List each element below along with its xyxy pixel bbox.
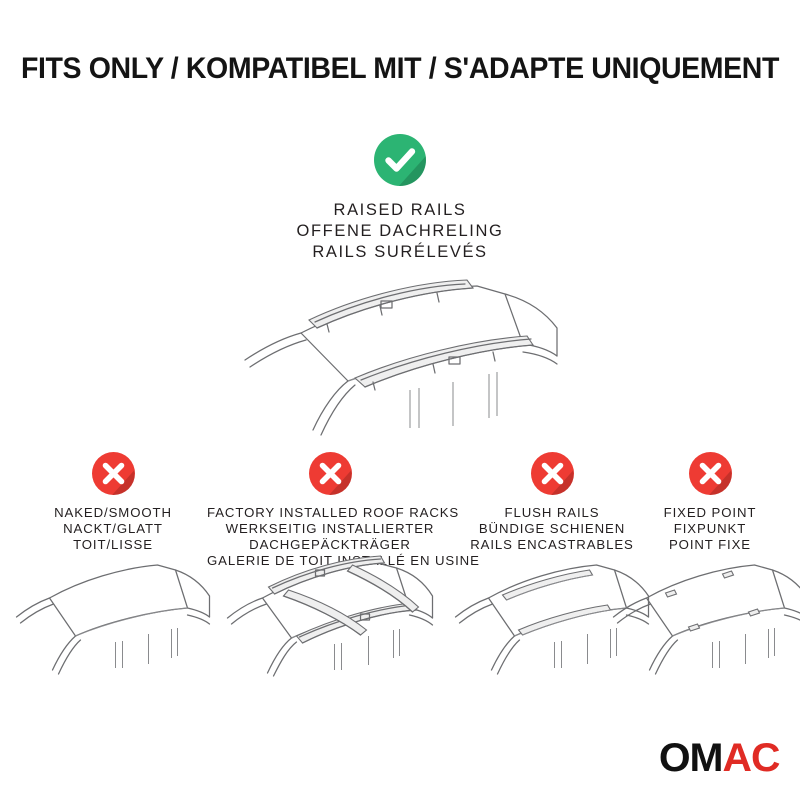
logo-text-dark: OM xyxy=(659,736,723,780)
compatible-label-de: OFFENE DACHRELING xyxy=(0,221,800,242)
column-factory-roof-racks: FACTORY INSTALLED ROOF RACKS WERKSEITIG … xyxy=(207,452,453,569)
compatible-label-en: RAISED RAILS xyxy=(0,200,800,221)
car-roof-naked-smooth-illustration xyxy=(6,560,221,675)
label-line-2: FIXPUNKT xyxy=(632,521,788,537)
column-naked-smooth-labels: NAKED/SMOOTH NACKT/GLATT TOIT/LISSE xyxy=(13,505,213,553)
check-icon xyxy=(374,134,426,186)
logo-text-red: AC xyxy=(722,736,779,780)
incompatible-sections: NAKED/SMOOTH NACKT/GLATT TOIT/LISSE xyxy=(0,452,800,702)
label-line-1: NAKED/SMOOTH xyxy=(13,505,213,521)
label-line-2: WERKSEITIG INSTALLIERTER xyxy=(207,521,453,537)
label-line-2: NACKT/GLATT xyxy=(13,521,213,537)
car-roof-raised-rails-illustration xyxy=(205,278,605,453)
label-line-3: RAILS ENCASTRABLES xyxy=(452,537,652,553)
label-line-1: FLUSH RAILS xyxy=(452,505,652,521)
column-fixed-point: FIXED POINT FIXPUNKT POINT FIXE xyxy=(632,452,788,553)
column-fixed-point-labels: FIXED POINT FIXPUNKT POINT FIXE xyxy=(632,505,788,553)
cross-icon xyxy=(531,452,574,495)
label-line-3: TOIT/LISSE xyxy=(13,537,213,553)
compatible-section: RAISED RAILS OFFENE DACHRELING RAILS SUR… xyxy=(0,134,800,263)
page-title: FITS ONLY / KOMPATIBEL MIT / S'ADAPTE UN… xyxy=(20,52,780,86)
compatible-labels: RAISED RAILS OFFENE DACHRELING RAILS SUR… xyxy=(0,200,800,263)
car-roof-factory-racks-illustration xyxy=(213,552,448,667)
label-line-3: POINT FIXE xyxy=(632,537,788,553)
column-flush-rails-labels: FLUSH RAILS BÜNDIGE SCHIENEN RAILS ENCAS… xyxy=(452,505,652,553)
label-line-1: FACTORY INSTALLED ROOF RACKS xyxy=(207,505,453,521)
cross-icon xyxy=(309,452,352,495)
column-naked-smooth: NAKED/SMOOTH NACKT/GLATT TOIT/LISSE xyxy=(13,452,213,553)
column-flush-rails: FLUSH RAILS BÜNDIGE SCHIENEN RAILS ENCAS… xyxy=(452,452,652,553)
label-line-2: BÜNDIGE SCHIENEN xyxy=(452,521,652,537)
cross-icon xyxy=(92,452,135,495)
label-line-3: DACHGEPÄCKTRÄGER xyxy=(207,537,453,553)
label-line-1: FIXED POINT xyxy=(632,505,788,521)
omac-logo: OMAC xyxy=(659,738,780,778)
cross-icon xyxy=(689,452,732,495)
car-roof-fixed-point-illustration xyxy=(603,560,800,675)
compatible-label-fr: RAILS SURÉLEVÉS xyxy=(0,242,800,263)
